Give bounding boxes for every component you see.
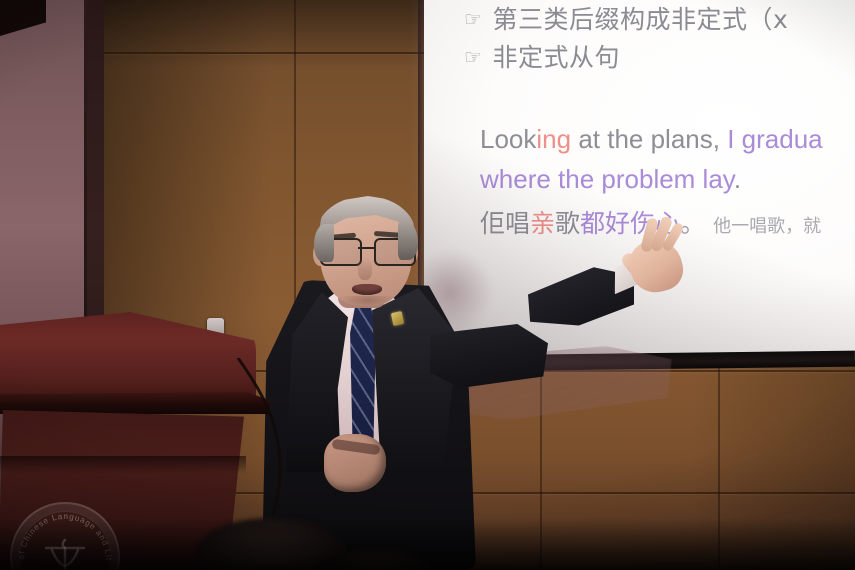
en-seg-look: Look bbox=[480, 124, 536, 154]
en-seg-clause: I gradua bbox=[727, 124, 822, 154]
hair-side-right bbox=[398, 222, 418, 260]
chin-shadow bbox=[338, 296, 396, 310]
school-emblem: School of Chinese Language and Literatur… bbox=[10, 502, 120, 570]
slide-bullet-2: ☞非定式从句 bbox=[464, 38, 620, 74]
lecture-photo-scene: ☞第三类后缀构成非定式（x ☞非定式从句 Looking at the plan… bbox=[0, 0, 855, 570]
cn-seg-punct: 。 bbox=[680, 209, 705, 238]
pointing-hand-icon: ☞ bbox=[464, 7, 482, 31]
hair-side-left bbox=[314, 224, 334, 262]
pointing-hand-icon: ☞ bbox=[464, 45, 482, 69]
slide-bullet-1: ☞第三类后缀构成非定式（x bbox=[464, 0, 788, 36]
en-seg-where: where the problem lay bbox=[480, 164, 734, 194]
en-seg-period: . bbox=[734, 164, 741, 194]
slide-english-line-1: Looking at the plans, I gradua bbox=[480, 124, 823, 155]
nose bbox=[358, 258, 372, 280]
cn-annotation: 他一唱歌，就 bbox=[713, 216, 821, 237]
slide-bullet-1-text: 第三类后缀构成非定式（x bbox=[492, 5, 788, 34]
lapel-pin bbox=[391, 311, 404, 326]
glasses-bridge bbox=[358, 247, 374, 249]
lectern-lip bbox=[0, 392, 270, 414]
lectern-shadow bbox=[0, 456, 246, 474]
emblem-character-glyph bbox=[38, 532, 92, 570]
en-seg-mid: at the plans, bbox=[571, 124, 727, 154]
mouth bbox=[352, 284, 382, 295]
slide-english-line-2: where the problem lay. bbox=[480, 164, 741, 195]
en-seg-ing: ing bbox=[536, 124, 571, 154]
slide-bullet-2-text: 非定式从句 bbox=[492, 43, 620, 72]
